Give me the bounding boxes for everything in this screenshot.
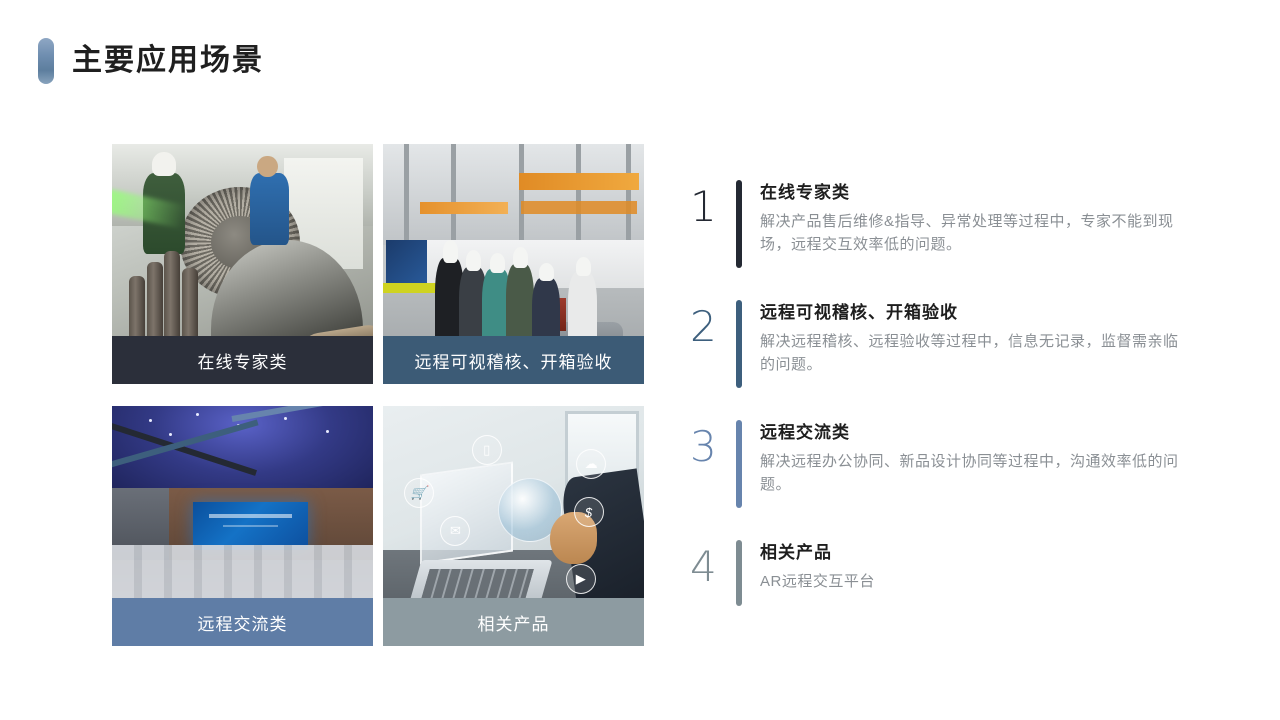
- scenario-accent-bar: [736, 180, 742, 268]
- scenario-title: 远程交流类: [760, 418, 1220, 443]
- photo-gallery: 在线专家类 远程可视稽核、开箱验收: [112, 144, 652, 646]
- scenario-number: 3: [690, 416, 736, 468]
- device-icon: ▯: [472, 435, 502, 465]
- page-title: 主要应用场景: [72, 46, 264, 76]
- scenario-accent-bar: [736, 540, 742, 606]
- scenario-accent-bar: [736, 420, 742, 508]
- photo-card-remote-audit[interactable]: 远程可视稽核、开箱验收: [383, 144, 644, 384]
- cart-icon: 🛒: [404, 478, 434, 508]
- scenario-item[interactable]: 1 在线专家类 解决产品售后维修&指导、异常处理等过程中，专家不能到现场，远程交…: [690, 176, 1220, 272]
- scenario-number: 4: [690, 536, 736, 588]
- dollar-icon: $: [574, 497, 604, 527]
- scenario-list: 1 在线专家类 解决产品售后维修&指导、异常处理等过程中，专家不能到现场，远程交…: [690, 176, 1220, 634]
- scenario-description: 解决产品售后维修&指导、异常处理等过程中，专家不能到现场，远程交互效率低的问题。: [760, 210, 1192, 257]
- photo-caption: 远程交流类: [112, 598, 373, 646]
- scenario-accent-bar: [736, 300, 742, 388]
- slide-header: 主要应用场景: [38, 38, 264, 84]
- scenario-number: 1: [690, 176, 736, 228]
- scenario-item[interactable]: 2 远程可视稽核、开箱验收 解决远程稽核、远程验收等过程中，信息无记录，监督需亲…: [690, 296, 1220, 392]
- photo-caption: 远程可视稽核、开箱验收: [383, 336, 644, 384]
- scenario-title: 在线专家类: [760, 178, 1220, 203]
- scenario-item[interactable]: 4 相关产品 AR远程交互平台: [690, 536, 1220, 610]
- scenario-title: 相关产品: [760, 538, 1220, 563]
- scenario-description: AR远程交互平台: [760, 570, 1192, 593]
- scenario-description: 解决远程办公协同、新品设计协同等过程中，沟通效率低的问题。: [760, 450, 1192, 497]
- pill-bullet-icon: [38, 38, 54, 84]
- photo-caption: 相关产品: [383, 598, 644, 646]
- scenario-title: 远程可视稽核、开箱验收: [760, 298, 1220, 323]
- play-icon: ▶: [566, 564, 596, 594]
- photo-card-related-product[interactable]: 🛒 ✉ ▯ ☁ $ ▭ ▶ 相关产品: [383, 406, 644, 646]
- photo-card-remote-communication[interactable]: 远程交流类: [112, 406, 373, 646]
- photo-caption: 在线专家类: [112, 336, 373, 384]
- photo-card-online-expert[interactable]: 在线专家类: [112, 144, 373, 384]
- scenario-item[interactable]: 3 远程交流类 解决远程办公协同、新品设计协同等过程中，沟通效率低的问题。: [690, 416, 1220, 512]
- scenario-number: 2: [690, 296, 736, 348]
- scenario-description: 解决远程稽核、远程验收等过程中，信息无记录，监督需亲临的问题。: [760, 330, 1192, 377]
